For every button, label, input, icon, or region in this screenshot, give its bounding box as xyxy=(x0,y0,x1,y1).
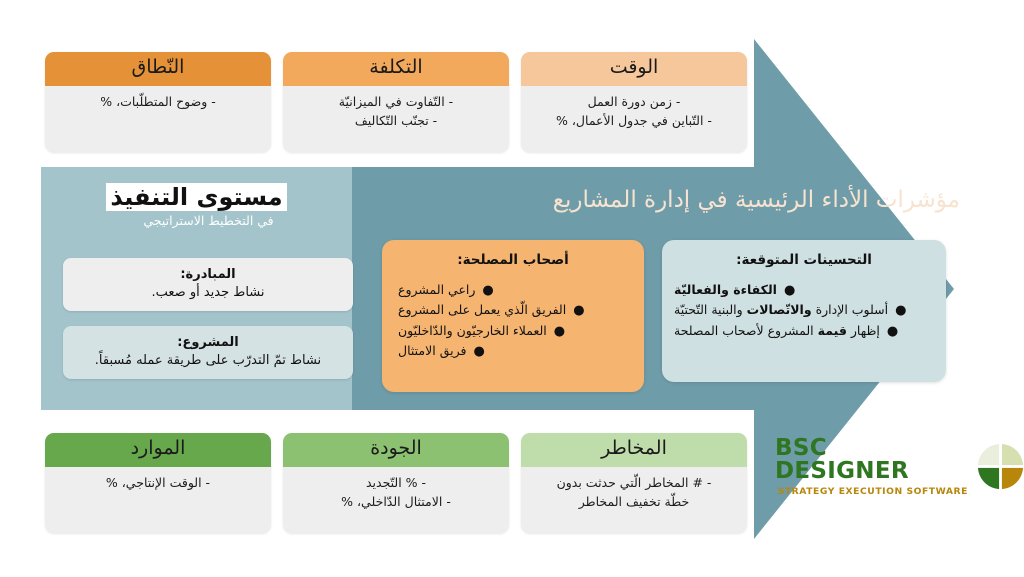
text-pre: أسلوب الإدارة xyxy=(812,302,888,317)
list-item-label: الكفاءة والفعاليّة xyxy=(674,280,777,300)
kpi-card-cost-title: التكلفة xyxy=(283,52,509,86)
kpi-card-quality-body: - % التّجديد - الامتثال الدّاخلي، % xyxy=(283,467,509,520)
execution-level-heading: مستوى التنفيذ في التخطيط الاستراتيجي xyxy=(41,183,352,228)
kpi-card-quality-title: الجودة xyxy=(283,433,509,467)
kpi-card-scope-body: - وضوح المتطلّبات، % xyxy=(45,86,271,120)
list-item: ● إظهار قيمة المشروع لأصحاب المصلحة xyxy=(662,321,946,341)
execution-level-title: مستوى التنفيذ xyxy=(106,183,286,211)
kpi-line: - وضوح المتطلّبات، % xyxy=(55,93,261,112)
kpi-card-resources[interactable]: الموارد - الوقت الإنتاجي، % xyxy=(45,433,271,533)
logo-wordmark: BSC DESIGNER STRATEGY EXECUTION SOFTWARE xyxy=(775,437,968,496)
bullet-icon: ● xyxy=(554,325,565,338)
kpi-card-scope-title: النّطاق xyxy=(45,52,271,86)
kpi-card-quality[interactable]: الجودة - % التّجديد - الامتثال الدّاخلي،… xyxy=(283,433,509,533)
list-item: ● الكفاءة والفعاليّة xyxy=(662,280,946,300)
kpi-line: - % التّجديد xyxy=(293,474,499,493)
infographic-canvas: النّطاق - وضوح المتطلّبات، % التكلفة - ا… xyxy=(0,0,1024,577)
kpi-card-time-title: الوقت xyxy=(521,52,747,86)
kpi-line: خطّة تخفيف المخاطر xyxy=(531,493,737,512)
expected-improvements-heading: التحسينات المتوقعة: xyxy=(662,240,946,268)
kpi-card-cost[interactable]: التكلفة - التّفاوت في الميزانيّة - تجنّب… xyxy=(283,52,509,152)
kpi-card-time-body: - زمن دورة العمل - التّباين في جدول الأع… xyxy=(521,86,747,139)
list-item: ● فريق الامتثال xyxy=(382,341,644,361)
kpi-line: - التّباين في جدول الأعمال، % xyxy=(531,112,737,131)
kpi-card-risks-title: المخاطر xyxy=(521,433,747,467)
bullet-icon: ● xyxy=(473,345,484,358)
logo-tagline: STRATEGY EXECUTION SOFTWARE xyxy=(778,487,968,496)
list-item: ● الفريق الّذي يعمل على المشروع xyxy=(382,300,644,320)
text-bold: الكفاءة والفعاليّة xyxy=(674,282,777,297)
text-post: والبنية التّحتيّة xyxy=(674,302,747,317)
kpi-card-resources-body: - الوقت الإنتاجي، % xyxy=(45,467,271,501)
text-post: المشروع لأصحاب المصلحة xyxy=(674,323,818,338)
text-pre: إظهار xyxy=(847,323,880,338)
quadrant-circle-icon xyxy=(977,443,1024,490)
list-item-label: أسلوب الإدارة والاتّصالات والبنية التّحت… xyxy=(674,300,888,320)
bullet-icon: ● xyxy=(482,284,493,297)
list-item: ● العملاء الخارجيّون والدّاخليّون xyxy=(382,321,644,341)
definition-card-project[interactable]: المشروع: نشاط تمّ التدرّب على طريقة عمله… xyxy=(63,326,353,379)
text-bold: والاتّصالات xyxy=(747,302,812,317)
bullet-icon: ● xyxy=(784,284,795,297)
kpi-card-cost-body: - التّفاوت في الميزانيّة - تجنّب التّكال… xyxy=(283,86,509,139)
kpi-line: - تجنّب التّكاليف xyxy=(293,112,499,131)
kpi-card-risks-body: - # المخاطر الّتي حدثت بدون خطّة تخفيف ا… xyxy=(521,467,747,520)
kpi-line: - الامتثال الدّاخلي، % xyxy=(293,493,499,512)
bullet-icon: ● xyxy=(573,304,584,317)
kpi-line: - زمن دورة العمل xyxy=(531,93,737,112)
stakeholders-heading: أصحاب المصلحة: xyxy=(382,240,644,268)
kpi-line: - # المخاطر الّتي حدثت بدون xyxy=(531,474,737,493)
list-item-label: راعي المشروع xyxy=(398,280,475,300)
list-item-label: إظهار قيمة المشروع لأصحاب المصلحة xyxy=(674,321,880,341)
list-item-label: العملاء الخارجيّون والدّاخليّون xyxy=(398,321,547,341)
kpi-card-resources-title: الموارد xyxy=(45,433,271,467)
execution-level-subtitle: في التخطيط الاستراتيجي xyxy=(41,213,352,228)
definition-card-initiative-text: نشاط جديد أو صعب. xyxy=(77,284,339,302)
stakeholders-panel[interactable]: أصحاب المصلحة: ● راعي المشروع ● الفريق ا… xyxy=(382,240,644,392)
definition-card-project-label: المشروع: xyxy=(77,334,339,352)
page-title: مؤشرات الأداء الرئيسية في إدارة المشاريع xyxy=(360,186,960,215)
expected-improvements-panel[interactable]: التحسينات المتوقعة: ● الكفاءة والفعاليّة… xyxy=(662,240,946,382)
kpi-line: - الوقت الإنتاجي، % xyxy=(55,474,261,493)
bullet-icon: ● xyxy=(895,304,906,317)
kpi-card-risks[interactable]: المخاطر - # المخاطر الّتي حدثت بدون خطّة… xyxy=(521,433,747,533)
text-bold: قيمة xyxy=(818,323,847,338)
logo-mark-svg xyxy=(977,443,1024,490)
bsc-designer-logo[interactable]: BSC DESIGNER STRATEGY EXECUTION SOFTWARE xyxy=(775,437,1024,496)
list-item-label: فريق الامتثال xyxy=(398,341,466,361)
expected-improvements-list: ● الكفاءة والفعاليّة ● أسلوب الإدارة وال… xyxy=(662,280,946,341)
stakeholders-list: ● راعي المشروع ● الفريق الّذي يعمل على ا… xyxy=(382,280,644,361)
definition-card-project-text: نشاط تمّ التدرّب على طريقة عمله مُسبقاً. xyxy=(77,352,339,370)
bullet-icon: ● xyxy=(887,325,898,338)
list-item: ● أسلوب الإدارة والاتّصالات والبنية التّ… xyxy=(662,300,946,320)
list-item: ● راعي المشروع xyxy=(382,280,644,300)
definition-card-initiative-label: المبادرة: xyxy=(77,266,339,284)
definition-card-initiative[interactable]: المبادرة: نشاط جديد أو صعب. xyxy=(63,258,353,311)
kpi-card-scope[interactable]: النّطاق - وضوح المتطلّبات، % xyxy=(45,52,271,152)
list-item-label: الفريق الّذي يعمل على المشروع xyxy=(398,300,566,320)
kpi-line: - التّفاوت في الميزانيّة xyxy=(293,93,499,112)
logo-name: BSC DESIGNER xyxy=(775,437,968,483)
kpi-card-time[interactable]: الوقت - زمن دورة العمل - التّباين في جدو… xyxy=(521,52,747,152)
